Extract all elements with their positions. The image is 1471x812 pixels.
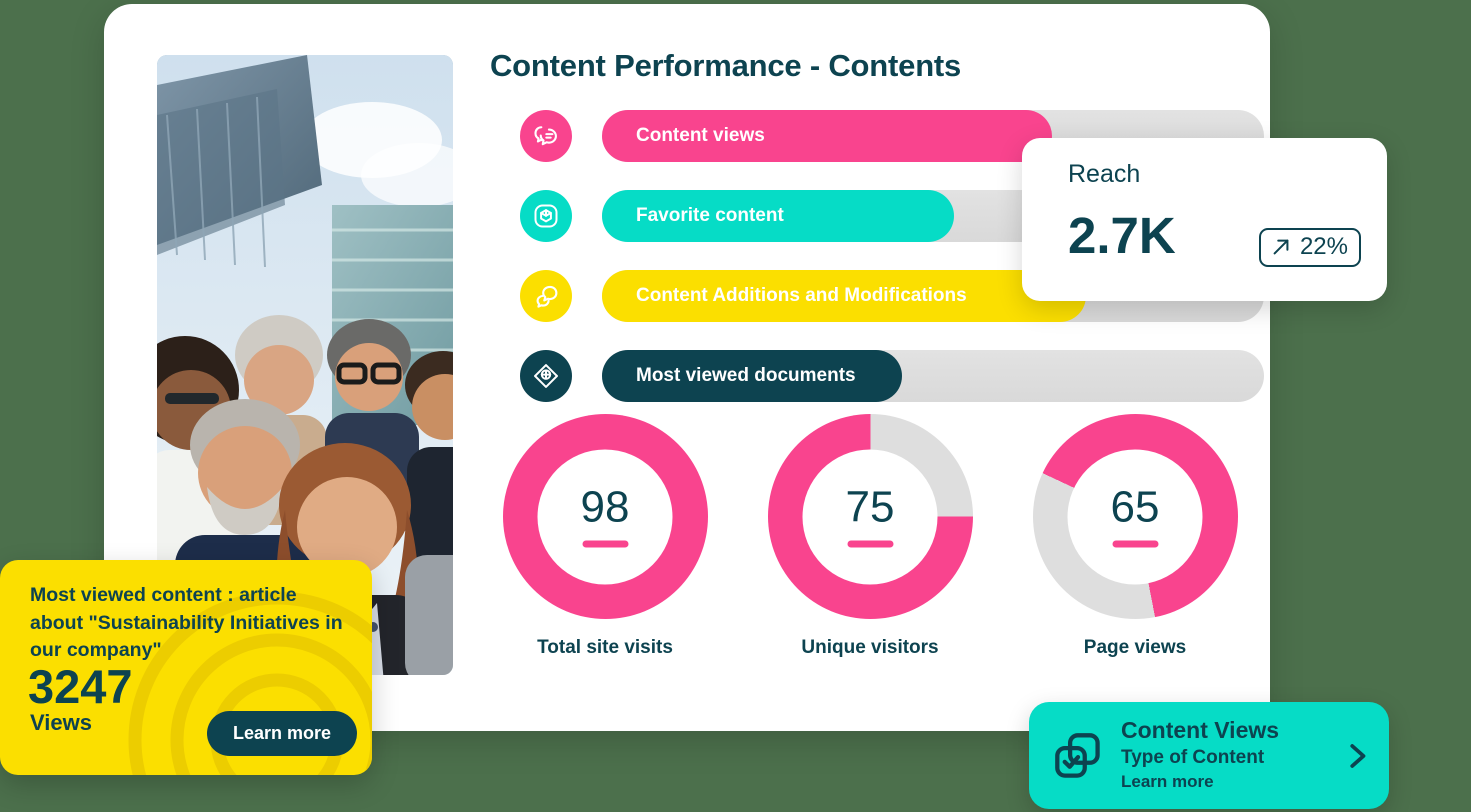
- donut-value: 98: [581, 486, 630, 530]
- learn-more-button[interactable]: Learn more: [207, 711, 357, 756]
- donut-center: 98: [538, 449, 673, 584]
- donut-chart: 98: [503, 414, 708, 619]
- arrow-up-right-icon: [1270, 236, 1292, 258]
- page-title: Content Performance - Contents: [490, 48, 961, 84]
- bar-fill: Favorite content: [602, 190, 954, 242]
- donut-underline: [1112, 541, 1158, 548]
- donut-label: Page views: [1020, 637, 1250, 659]
- donut-center: 75: [803, 449, 938, 584]
- donut-underline: [582, 541, 628, 548]
- donut-label: Total site visits: [490, 637, 720, 659]
- most-viewed-content-card[interactable]: Most viewed content : article about "Sus…: [0, 560, 372, 775]
- donut-underline: [847, 541, 893, 548]
- promo-number: 3247: [28, 663, 133, 710]
- donut-chart: 75: [768, 414, 973, 619]
- reach-value: 2.7K: [1068, 210, 1176, 261]
- donut-label: Unique visitors: [755, 637, 985, 659]
- most-viewed-documents-icon: [520, 350, 572, 402]
- content-views-icon: [520, 110, 572, 162]
- donut-group: 98 Total site visits 75 Unique visitors …: [490, 414, 1250, 659]
- bar-fill: Content views: [602, 110, 1052, 162]
- chevron-right-icon[interactable]: [1341, 741, 1371, 771]
- favorite-content-icon: [520, 190, 572, 242]
- reach-card[interactable]: Reach 2.7K 22%: [1022, 138, 1387, 301]
- card-learn-more: Learn more: [1121, 771, 1325, 794]
- bar-row[interactable]: Most viewed documents: [520, 350, 1220, 402]
- donut-chart: 65: [1033, 414, 1238, 619]
- duplicate-check-icon: [1051, 729, 1105, 783]
- content-views-card[interactable]: Content Views Type of Content Learn more: [1029, 702, 1389, 809]
- donut-value: 75: [846, 486, 895, 530]
- donut-card-total-site-visits: 98 Total site visits: [490, 414, 720, 659]
- promo-unit: Views: [30, 710, 92, 736]
- promo-headline: Most viewed content : article about "Sus…: [30, 582, 348, 665]
- reach-title: Reach: [1068, 160, 1140, 189]
- content-additions-icon: [520, 270, 572, 322]
- content-views-card-text: Content Views Type of Content Learn more: [1121, 717, 1325, 793]
- bar-fill: Content Additions and Modifications: [602, 270, 1086, 322]
- donut-card-unique-visitors: 75 Unique visitors: [755, 414, 985, 659]
- card-subtitle: Type of Content: [1121, 745, 1325, 771]
- donut-value: 65: [1111, 486, 1160, 530]
- reach-delta: 22%: [1300, 233, 1348, 261]
- donut-card-page-views: 65 Page views: [1020, 414, 1250, 659]
- status-badge: 22%: [1259, 228, 1361, 267]
- donut-center: 65: [1068, 449, 1203, 584]
- bar-fill: Most viewed documents: [602, 350, 902, 402]
- card-title: Content Views: [1121, 717, 1325, 745]
